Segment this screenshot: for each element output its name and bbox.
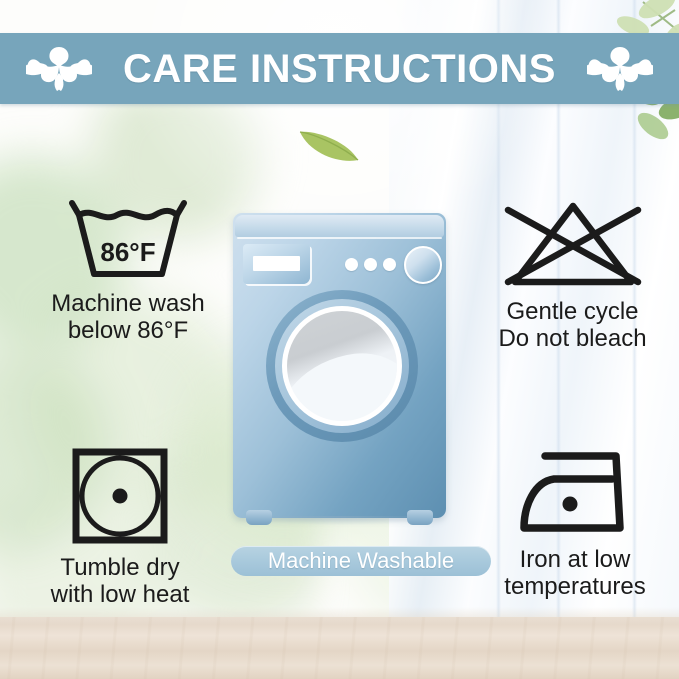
- control-indicator-1: [345, 258, 358, 271]
- door-glass: [287, 311, 397, 421]
- machine-foot-right: [407, 510, 433, 525]
- care-symbol-label-tumble-dry: Tumble dry with low heat: [51, 554, 190, 608]
- wash-tub-glyph-wrap: 86°F: [65, 196, 191, 282]
- care-symbol-tumble-dry: Tumble dry with low heat: [20, 446, 220, 608]
- care-symbol-machine-wash: 86°F Machine wash below 86°F: [18, 196, 238, 344]
- wood-grain-texture: [0, 617, 679, 679]
- care-symbol-iron: Iron at low temperatures: [475, 446, 675, 600]
- control-indicator-2: [364, 258, 377, 271]
- machine-panel-divider: [237, 237, 442, 239]
- care-symbol-do-not-bleach: Gentle cycle Do not bleach: [470, 196, 675, 352]
- machine-foot-left: [246, 510, 272, 525]
- wash-temperature-value: 86°F: [65, 237, 191, 268]
- fleur-de-lis-icon-left: [26, 43, 92, 95]
- page-title: CARE INSTRUCTIONS: [123, 49, 556, 89]
- iron-low-temperature-icon: [512, 446, 638, 538]
- care-symbol-label-do-not-bleach: Gentle cycle Do not bleach: [498, 298, 646, 352]
- door-glass-highlight: [287, 346, 397, 421]
- machine-top-panel: [235, 215, 444, 237]
- fleur-de-lis-icon-right: [587, 43, 653, 95]
- program-selector-knob: [404, 246, 442, 284]
- crossed-triangle-no-bleach-icon: [498, 196, 648, 290]
- care-instructions-graphic: CARE INSTRUCTIONS 86°F Machine wash belo…: [0, 0, 679, 679]
- tumble-dry-low-heat-icon: [70, 446, 170, 546]
- machine-washable-badge: Machine Washable: [231, 546, 491, 576]
- care-symbol-label-iron: Iron at low temperatures: [504, 546, 645, 600]
- floating-leaf-icon: [296, 124, 362, 168]
- washing-machine-illustration: [233, 213, 446, 528]
- control-indicator-3: [383, 258, 396, 271]
- machine-washable-badge-label: Machine Washable: [268, 550, 454, 572]
- care-symbol-label-machine-wash: Machine wash below 86°F: [51, 290, 204, 344]
- header-banner: CARE INSTRUCTIONS: [0, 33, 679, 104]
- detergent-drawer: [243, 244, 310, 284]
- detergent-drawer-slot: [253, 256, 300, 271]
